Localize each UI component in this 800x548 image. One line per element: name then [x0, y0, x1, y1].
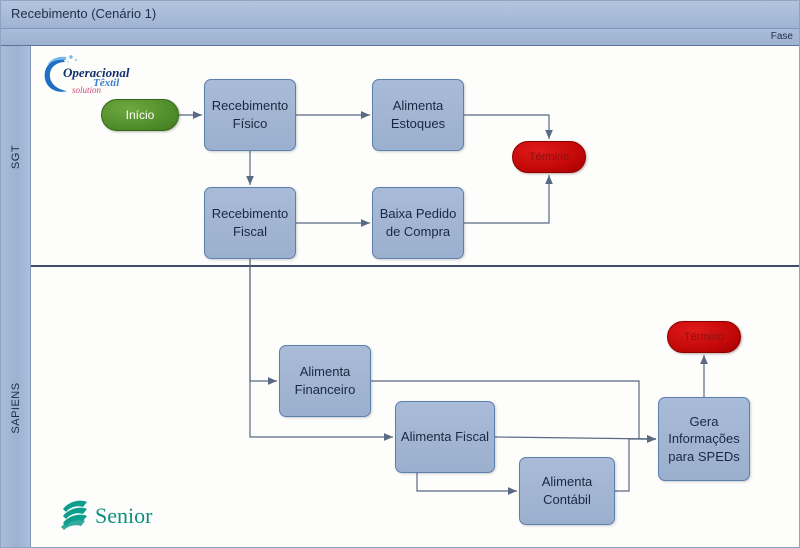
flow-node-label: Término [529, 151, 569, 163]
flowchart-page: Recebimento (Cenário 1) Fase SGT SAPIENS… [0, 0, 800, 548]
flow-node-alimenta-contabil[interactable]: AlimentaContábil [519, 457, 615, 525]
senior-mark-icon [61, 501, 87, 530]
flow-node-recebimento-fiscal[interactable]: RecebimentoFiscal [204, 187, 296, 259]
flow-node-alimenta-estoques[interactable]: AlimentaEstoques [372, 79, 464, 151]
flow-node-label: GeraInformaçõespara SPEDs [668, 413, 740, 466]
page-title: Recebimento (Cenário 1) [11, 6, 156, 21]
flow-node-label: Início [126, 108, 155, 122]
flow-node-label: Alimenta Fiscal [401, 428, 489, 446]
flow-node-termino-sapiens[interactable]: Término [667, 321, 741, 353]
phase-header-bar: Fase [1, 29, 800, 46]
flow-node-alimenta-fiscal[interactable]: Alimenta Fiscal [395, 401, 495, 473]
flow-node-gera-informacoes[interactable]: GeraInformaçõespara SPEDs [658, 397, 750, 481]
flow-node-inicio[interactable]: Início [101, 99, 179, 131]
flow-node-label: RecebimentoFísico [212, 97, 289, 132]
window-titlebar: Recebimento (Cenário 1) [1, 1, 800, 29]
flow-node-alimenta-financeiro[interactable]: AlimentaFinanceiro [279, 345, 371, 417]
lane-header-sgt: SGT [1, 46, 31, 267]
flow-node-label: AlimentaFinanceiro [295, 363, 356, 398]
flow-node-label: AlimentaContábil [542, 473, 593, 508]
flow-node-label: Término [684, 331, 724, 343]
flow-node-termino-sgt[interactable]: Término [512, 141, 586, 173]
flow-node-label: Baixa Pedidode Compra [380, 205, 457, 240]
senior-wordmark: Senior [95, 503, 153, 528]
flow-node-label: AlimentaEstoques [391, 97, 445, 132]
lane-label-sapiens: SAPIENS [10, 382, 22, 433]
flow-node-recebimento-fisico[interactable]: RecebimentoFísico [204, 79, 296, 151]
operacional-textil-logo: Operacional Têxtil solution [41, 53, 153, 99]
flow-node-baixa-pedido[interactable]: Baixa Pedidode Compra [372, 187, 464, 259]
senior-logo: Senior [59, 497, 169, 531]
lane-header-sapiens: SAPIENS [1, 267, 31, 548]
flow-node-label: RecebimentoFiscal [212, 205, 289, 240]
logo-text-solution: solution [72, 85, 102, 95]
lane-label-sgt: SGT [10, 144, 22, 168]
phase-label: Fase [771, 31, 793, 42]
